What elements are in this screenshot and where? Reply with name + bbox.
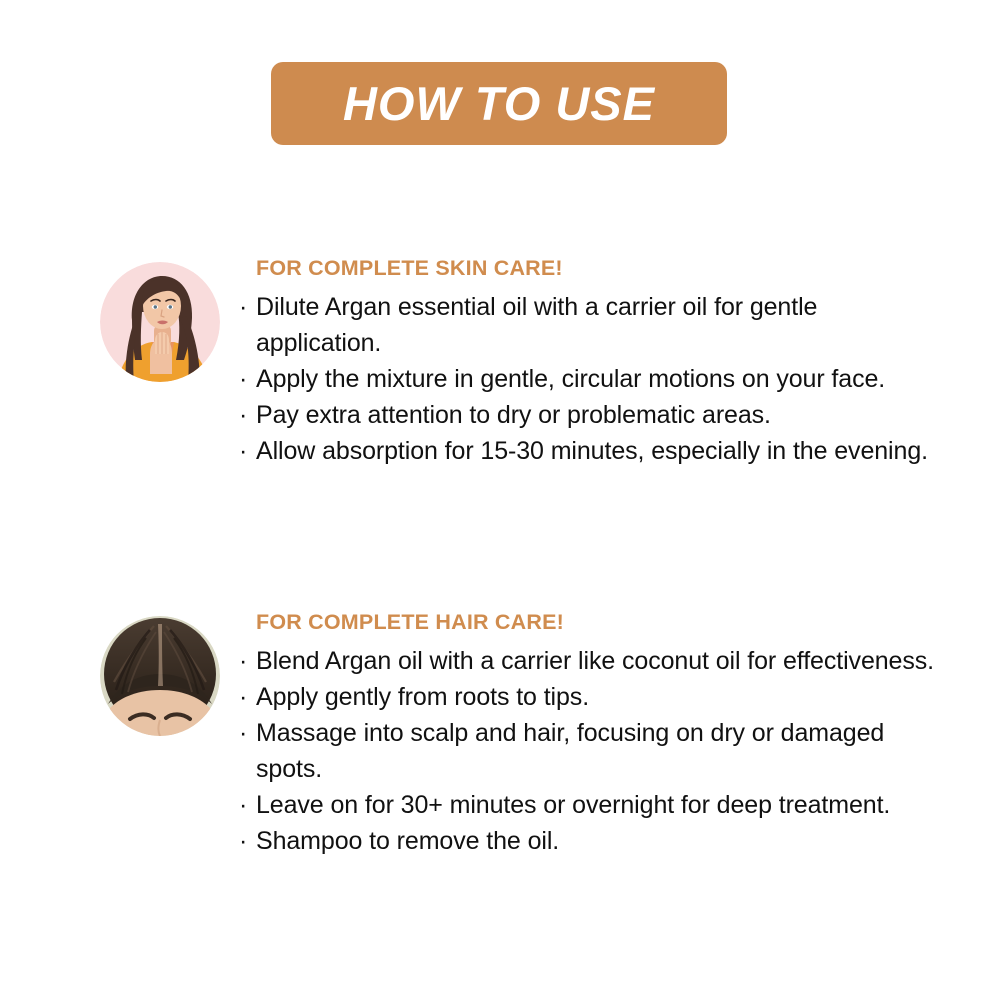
list-item-text: Dilute Argan essential oil with a carrie… xyxy=(256,289,939,361)
list-item-text: Leave on for 30+ minutes or overnight fo… xyxy=(256,787,939,823)
hair-care-instruction-list: · Blend Argan oil with a carrier like co… xyxy=(239,643,939,859)
list-item: · Leave on for 30+ minutes or overnight … xyxy=(239,787,939,823)
woman-touching-face-photo-icon xyxy=(100,262,220,382)
bullet-dot-icon: · xyxy=(239,433,247,469)
list-item-text: Apply gently from roots to tips. xyxy=(256,679,939,715)
bullet-dot-icon: · xyxy=(239,643,247,679)
avatar-hair-care xyxy=(100,616,220,736)
how-to-use-page: HOW TO USE xyxy=(0,0,1000,1000)
list-item-text: Blend Argan oil with a carrier like coco… xyxy=(256,643,939,679)
list-item: · Apply the mixture in gentle, circular … xyxy=(239,361,939,397)
list-item-text: Massage into scalp and hair, focusing on… xyxy=(256,715,939,787)
list-item-text: Apply the mixture in gentle, circular mo… xyxy=(256,361,939,397)
bullet-dot-icon: · xyxy=(239,787,247,823)
bullet-dot-icon: · xyxy=(239,823,247,859)
section-skin-care-text: FOR COMPLETE SKIN CARE! · Dilute Argan e… xyxy=(239,258,939,469)
section-heading-hair-care: FOR COMPLETE HAIR CARE! xyxy=(256,612,939,634)
list-item: · Dilute Argan essential oil with a carr… xyxy=(239,289,939,361)
list-item: · Shampoo to remove the oil. xyxy=(239,823,939,859)
page-title: HOW TO USE xyxy=(343,80,655,127)
avatar-skin-care xyxy=(100,262,220,382)
list-item: · Apply gently from roots to tips. xyxy=(239,679,939,715)
list-item-text: Allow absorption for 15-30 minutes, espe… xyxy=(256,433,939,469)
list-item-text: Pay extra attention to dry or problemati… xyxy=(256,397,939,433)
bullet-dot-icon: · xyxy=(239,289,247,325)
list-item: · Allow absorption for 15-30 minutes, es… xyxy=(239,433,939,469)
bullet-dot-icon: · xyxy=(239,715,247,751)
list-item: · Blend Argan oil with a carrier like co… xyxy=(239,643,939,679)
scalp-hairline-photo-icon xyxy=(100,616,220,736)
bullet-dot-icon: · xyxy=(239,397,247,433)
list-item: · Pay extra attention to dry or problema… xyxy=(239,397,939,433)
section-heading-skin-care: FOR COMPLETE SKIN CARE! xyxy=(256,258,939,280)
how-to-use-banner: HOW TO USE xyxy=(271,62,727,145)
bullet-dot-icon: · xyxy=(239,361,247,397)
list-item-text: Shampoo to remove the oil. xyxy=(256,823,939,859)
bullet-dot-icon: · xyxy=(239,679,247,715)
list-item: · Massage into scalp and hair, focusing … xyxy=(239,715,939,787)
skin-care-instruction-list: · Dilute Argan essential oil with a carr… xyxy=(239,289,939,469)
section-hair-care-text: FOR COMPLETE HAIR CARE! · Blend Argan oi… xyxy=(239,612,939,859)
